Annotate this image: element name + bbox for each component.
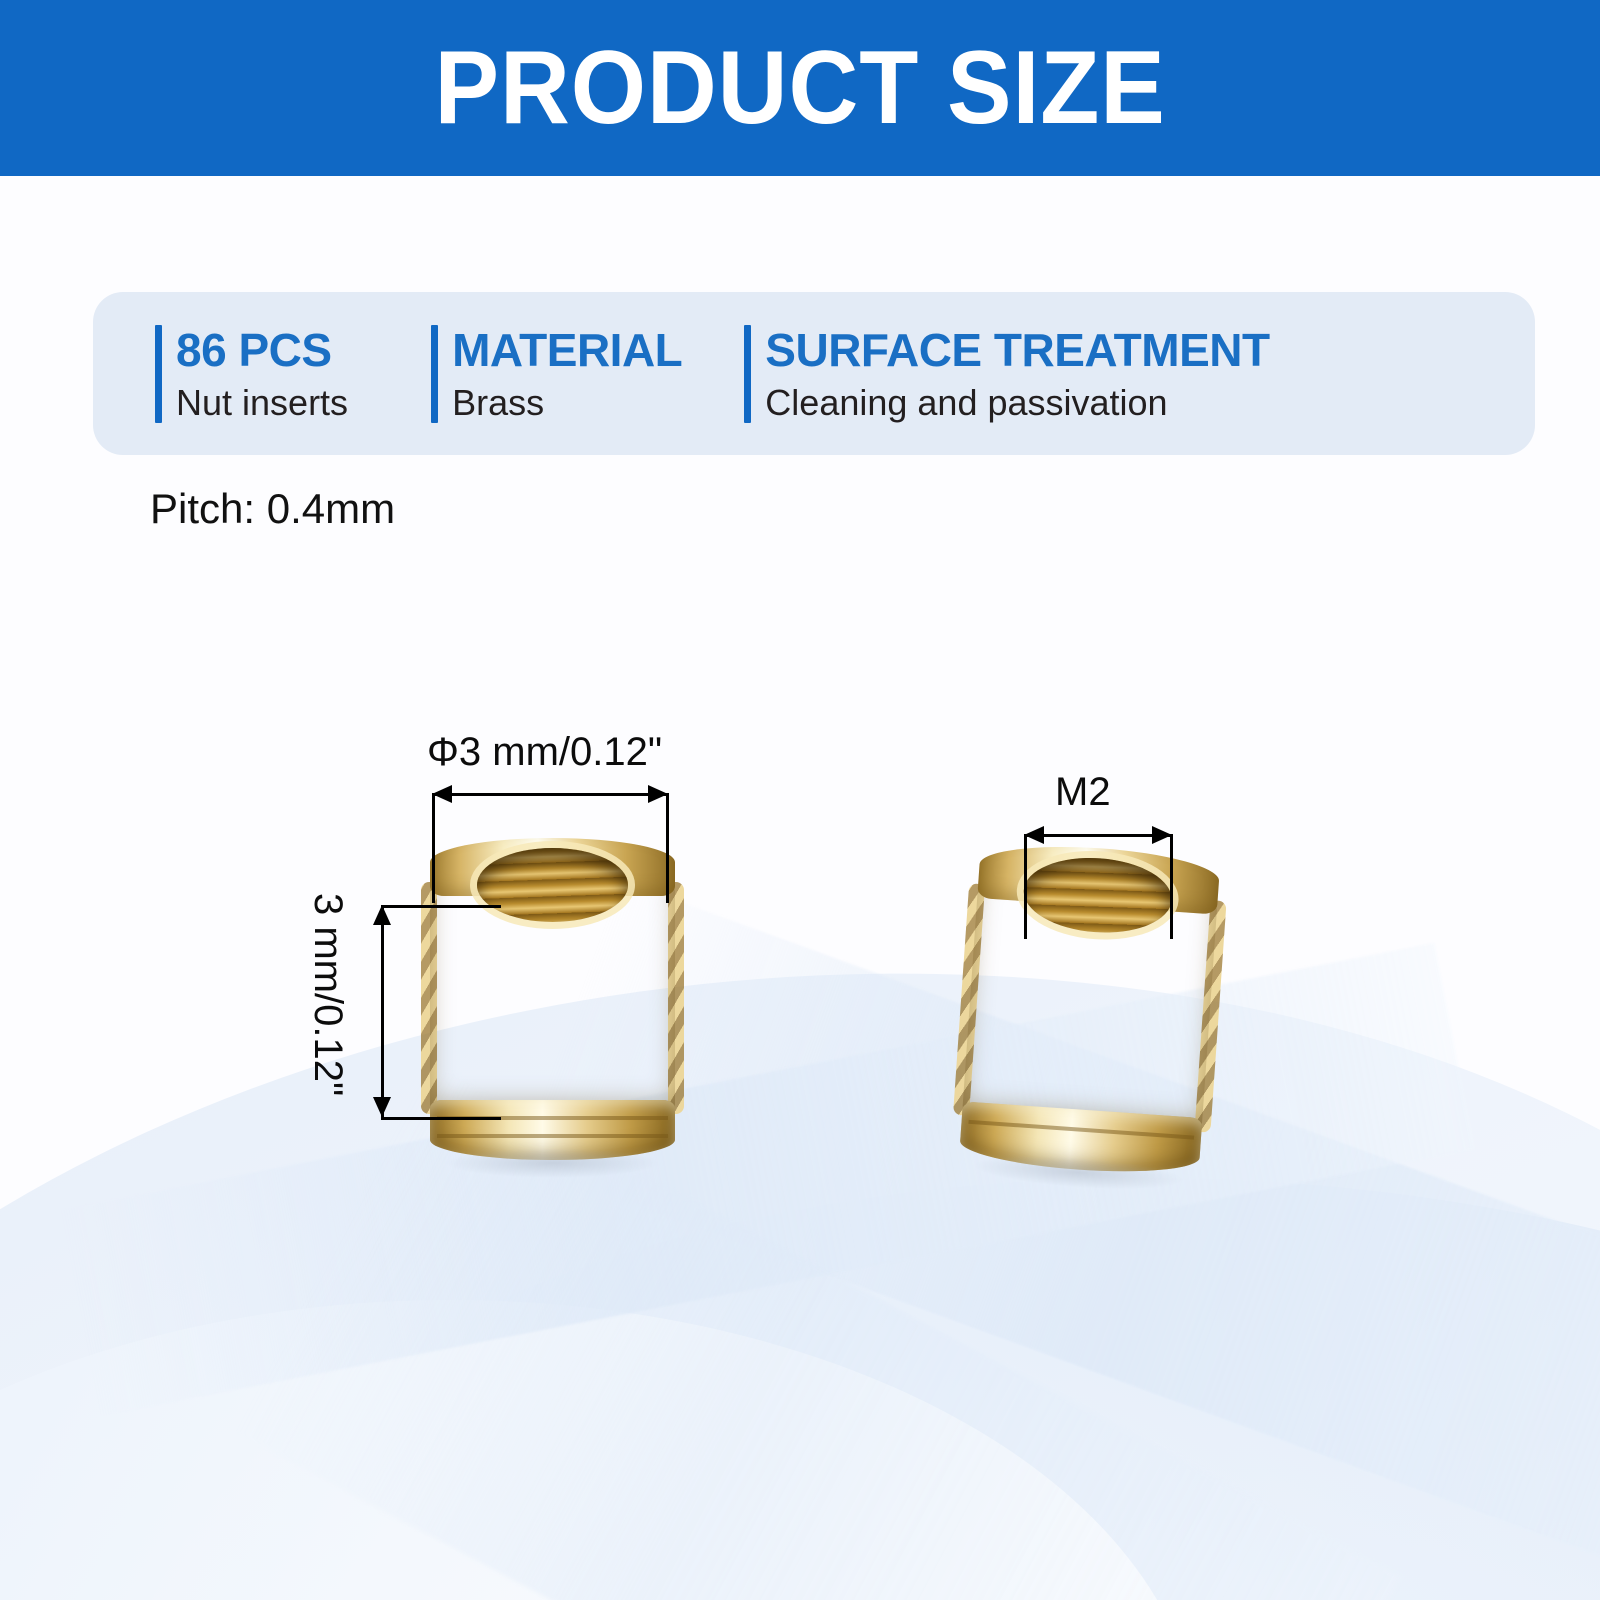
outer-diameter-arrow-right-icon (648, 785, 668, 803)
insert-height-extension-bottom (381, 1117, 501, 1120)
insert-thread-bore (477, 848, 629, 922)
spec-quantity-subtitle: Nut inserts (176, 383, 348, 423)
spec-material-subtitle: Brass (452, 383, 682, 423)
insert-height-arrow-up-icon (373, 905, 391, 925)
outer-diameter-extension-left (432, 793, 435, 903)
outer-diameter-label: Φ3 mm/0.12" (427, 730, 662, 775)
insert-height-dim-line (381, 905, 384, 1117)
brass-insert-left-image (430, 830, 675, 1160)
insert-height-arrow-down-icon (373, 1097, 391, 1117)
spec-panel: 86 PCS Nut inserts MATERIAL Brass SURFAC… (93, 292, 1535, 455)
thread-size-arrow-left-icon (1024, 826, 1044, 844)
thread-size-extension-right (1170, 834, 1173, 939)
outer-diameter-arrow-left-icon (432, 785, 452, 803)
thread-size-dim-line (1024, 834, 1172, 837)
spec-quantity-title: 86 PCS (176, 325, 348, 375)
product-stage: Φ3 mm/0.12" 3 mm/0.12" (0, 560, 1600, 1260)
accent-rule-icon (155, 325, 162, 423)
insert-height-extension-top (381, 905, 501, 908)
thread-size-extension-left (1024, 834, 1027, 939)
spec-material-title: MATERIAL (452, 325, 682, 375)
page-title: PRODUCT SIZE (434, 36, 1165, 140)
insert-height-label: 3 mm/0.12" (305, 893, 350, 1096)
spec-column-surface-treatment: SURFACE TREATMENT Cleaning and passivati… (744, 325, 1269, 423)
spec-column-quantity: 86 PCS Nut inserts (155, 325, 348, 423)
thread-size-arrow-right-icon (1152, 826, 1172, 844)
spec-surface-title: SURFACE TREATMENT (765, 325, 1269, 375)
outer-diameter-dim-line (432, 793, 668, 796)
accent-rule-icon (431, 325, 438, 423)
base-groove-line (969, 1120, 1194, 1140)
outer-diameter-extension-right (666, 793, 669, 903)
header-bar: PRODUCT SIZE (0, 0, 1600, 176)
brass-insert-right-image (959, 832, 1221, 1178)
base-groove-line (437, 1134, 667, 1138)
product-size-infographic: PRODUCT SIZE 86 PCS Nut inserts MATERIAL… (0, 0, 1600, 1600)
accent-rule-icon (744, 325, 751, 423)
background-wave-bottom (0, 1300, 1200, 1600)
spec-surface-subtitle: Cleaning and passivation (765, 383, 1269, 423)
insert-drop-shadow (445, 1148, 661, 1178)
spec-column-material: MATERIAL Brass (431, 325, 682, 423)
pitch-text: Pitch: 0.4mm (150, 485, 395, 533)
thread-size-label: M2 (1055, 770, 1111, 815)
